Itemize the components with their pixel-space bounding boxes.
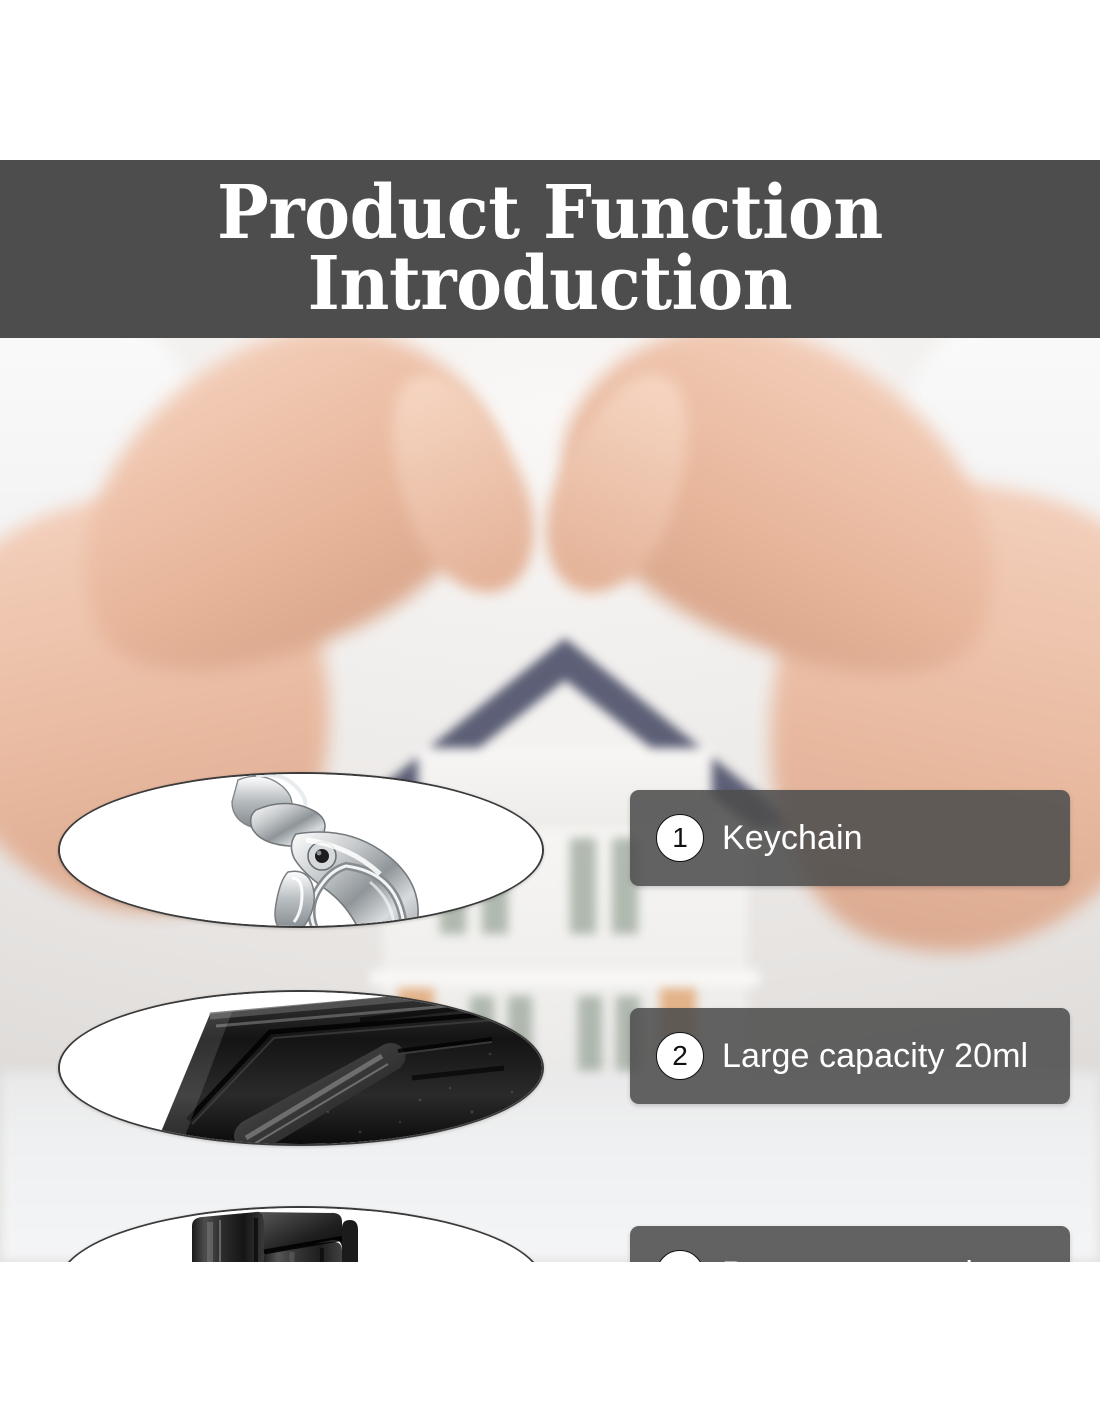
page-title: Product Function Introduction [199,178,902,320]
feature-badge-1: 1 [656,814,704,862]
house-window [570,838,596,934]
feature-card-1[interactable]: 1 Keychain [630,790,1070,886]
feature-card-3[interactable]: 3 Press type nozzle [630,1226,1070,1262]
photo-area: 1 Keychain 2 Large capacity 20ml 3 Press… [0,338,1100,1262]
house-window [578,996,602,1076]
product-infographic: Product Function Introduction [0,0,1100,1422]
feature-badge-2: 2 [656,1032,704,1080]
feature-badge-3: 3 [656,1250,704,1262]
house-trim-band [370,970,760,986]
header-banner: Product Function Introduction [0,160,1100,338]
feature-label-1: Keychain [722,819,863,858]
top-white-margin [0,0,1100,160]
bottom-white-margin [0,1262,1100,1422]
feature-label-2: Large capacity 20ml [722,1037,1028,1076]
feature-card-2[interactable]: 2 Large capacity 20ml [630,1008,1070,1104]
feature-label-3: Press type nozzle [722,1255,992,1263]
feature-image-2-bottle-body-photo [58,990,544,1146]
feature-image-1-keychain-clasp-photo [58,772,544,928]
